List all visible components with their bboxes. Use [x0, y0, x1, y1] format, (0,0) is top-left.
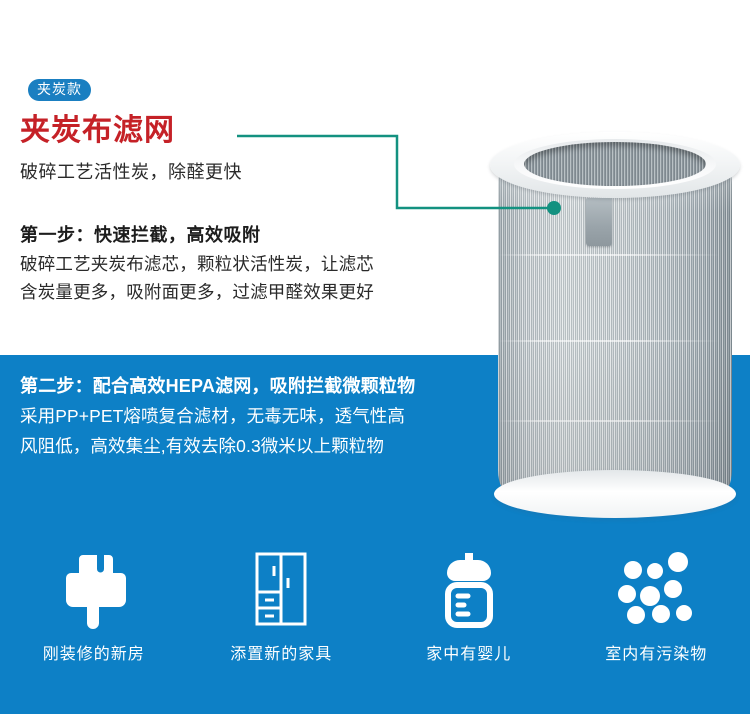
filter-seam — [498, 420, 732, 422]
feature-label: 室内有污染物 — [605, 640, 707, 664]
page-title: 夹炭布滤网 — [20, 113, 175, 149]
particles-icon — [614, 548, 698, 630]
step-one-title: 第一步：快速拦截，高效吸附 — [20, 222, 480, 250]
feature-item-indoor-pollutants: 室内有污染物 — [563, 548, 750, 678]
filter-bottom-rim — [494, 470, 736, 518]
wardrobe-icon — [244, 548, 318, 630]
product-detail-page: 夹炭款 夹炭布滤网 破碎工艺活性炭，除醛更快 第一步：快速拦截，高效吸附 破碎工… — [0, 0, 750, 714]
feature-label: 刚装修的新房 — [43, 640, 145, 664]
filter-seam — [498, 254, 732, 256]
baby-bottle-icon — [432, 548, 506, 630]
step-one-line-2: 含炭量更多，吸附面更多，过滤甲醛效果更好 — [20, 278, 480, 307]
page-subtitle: 破碎工艺活性炭，除醛更快 — [20, 160, 242, 185]
filter-seam — [498, 340, 732, 342]
step-two-title: 第二步：配合高效HEPA滤网，吸附拦截微颗粒物 — [20, 372, 490, 401]
step-two-line-1: 采用PP+PET熔喷复合滤材，无毒无味，透气性高 — [20, 401, 490, 431]
filter-top-rim — [490, 132, 740, 198]
step-one-block: 第一步：快速拦截，高效吸附 破碎工艺夹炭布滤芯，颗粒状活性炭，让滤芯 含炭量更多… — [20, 222, 480, 307]
step-one-line-1: 破碎工艺夹炭布滤芯，颗粒状活性炭，让滤芯 — [20, 250, 480, 279]
step-two-block: 第二步：配合高效HEPA滤网，吸附拦截微颗粒物 采用PP+PET熔喷复合滤材，无… — [20, 372, 490, 461]
variant-badge: 夹炭款 — [28, 79, 91, 101]
feature-label: 添置新的家具 — [230, 640, 332, 664]
feature-label: 家中有婴儿 — [426, 640, 511, 664]
step-two-line-2: 风阻低，高效集尘,有效去除0.3微米以上颗粒物 — [20, 431, 490, 461]
feature-item-baby-at-home: 家中有婴儿 — [375, 548, 563, 678]
filter-top-opening — [524, 142, 706, 186]
filter-cartridge-image — [480, 130, 750, 522]
feature-item-new-decoration: 刚装修的新房 — [0, 548, 188, 678]
feature-item-new-furniture: 添置新的家具 — [188, 548, 376, 678]
use-case-feature-row: 刚装修的新房 添置新的家具 — [0, 548, 750, 678]
filter-pull-tab-icon — [586, 198, 612, 246]
filter-pleated-body — [498, 158, 732, 496]
paint-brush-icon — [57, 548, 131, 630]
